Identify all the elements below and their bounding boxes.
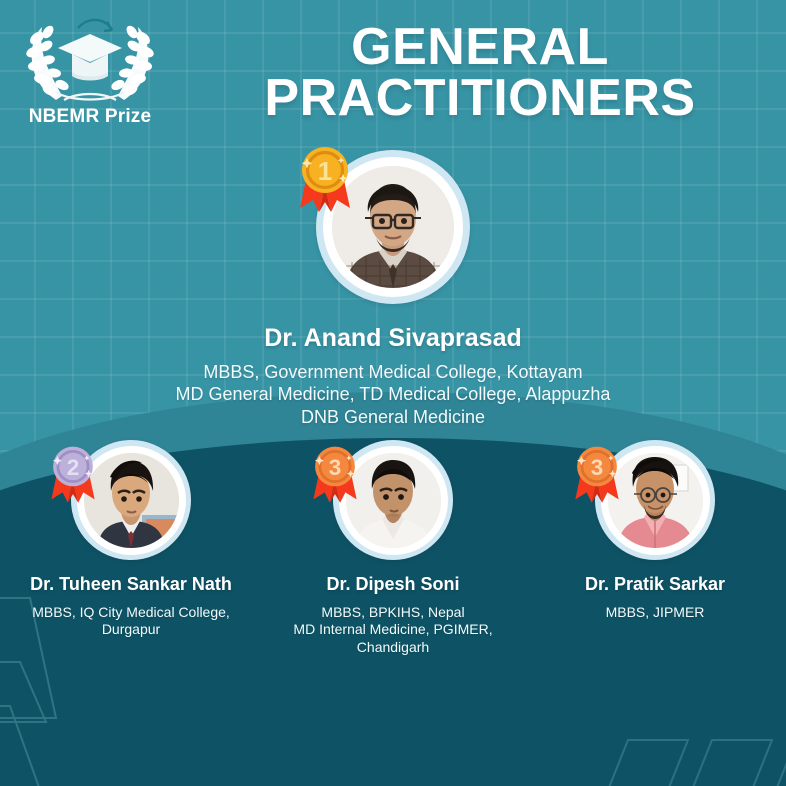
logo-label: NBEMR Prize [12, 106, 168, 128]
award-poster: NBEMR Prize GENERAL PRACTITIONERS [0, 0, 786, 786]
credential-line: Chandigarh [262, 639, 524, 656]
rank-badge-3-right: 3 [570, 444, 624, 513]
rank-badge-2: 2 [46, 444, 100, 513]
winner-name: Dr. Pratik Sarkar [524, 574, 786, 595]
winner-credentials: MBBS, Government Medical College, Kottay… [0, 361, 786, 428]
winner-name: Dr. Anand Sivaprasad [0, 324, 786, 353]
svg-text:3: 3 [591, 455, 604, 480]
title-line-1: GENERAL [351, 18, 609, 76]
nbemr-logo: NBEMR Prize [12, 8, 168, 136]
winner-card-second-place: 2 Dr. Tuheen Sankar Nath MBBS, IQ City M… [0, 440, 262, 639]
rank-badge-1: 1 [294, 144, 356, 223]
medal-ribbon-icon: 2 [46, 444, 100, 508]
title-line-2: PRACTITIONERS [180, 73, 780, 124]
winner-name: Dr. Tuheen Sankar Nath [0, 574, 262, 595]
medal-ribbon-icon: 3 [308, 444, 362, 508]
medal-ribbon-icon: 1 [294, 144, 356, 218]
medal-ribbon-icon: 3 [570, 444, 624, 508]
credential-line: MBBS, Government Medical College, Kottay… [0, 361, 786, 383]
winner-card-third-place-centre: 3 Dr. Dipesh Soni MBBS, BPKIHS, Nepal MD… [262, 440, 524, 656]
winner-credentials: MBBS, IQ City Medical College, Durgapur [0, 604, 262, 639]
credential-line: DNB General Medicine [0, 406, 786, 428]
winner-name: Dr. Dipesh Soni [262, 574, 524, 595]
svg-text:3: 3 [329, 455, 342, 480]
svg-text:1: 1 [318, 156, 332, 186]
page-title: GENERAL PRACTITIONERS [180, 22, 780, 124]
winner-credentials: MBBS, BPKIHS, Nepal MD Internal Medicine… [262, 604, 524, 656]
credential-line: Durgapur [0, 621, 262, 638]
graduation-cap-laurel-icon [12, 8, 168, 108]
winner-card-third-place-right: 3 Dr. Pratik Sarkar MBBS, JIPMER [524, 440, 786, 621]
credential-line: MBBS, IQ City Medical College, [0, 604, 262, 621]
credential-line: MBBS, JIPMER [524, 604, 786, 621]
winner-card-first-place: 1 Dr. Anand Sivaprasad MBBS, Government … [0, 150, 786, 428]
credential-line: MD Internal Medicine, PGIMER, [262, 621, 524, 638]
rank-badge-3-centre: 3 [308, 444, 362, 513]
svg-text:2: 2 [67, 455, 80, 480]
credential-line: MD General Medicine, TD Medical College,… [0, 383, 786, 405]
credential-line: MBBS, BPKIHS, Nepal [262, 604, 524, 621]
winner-credentials: MBBS, JIPMER [524, 604, 786, 621]
